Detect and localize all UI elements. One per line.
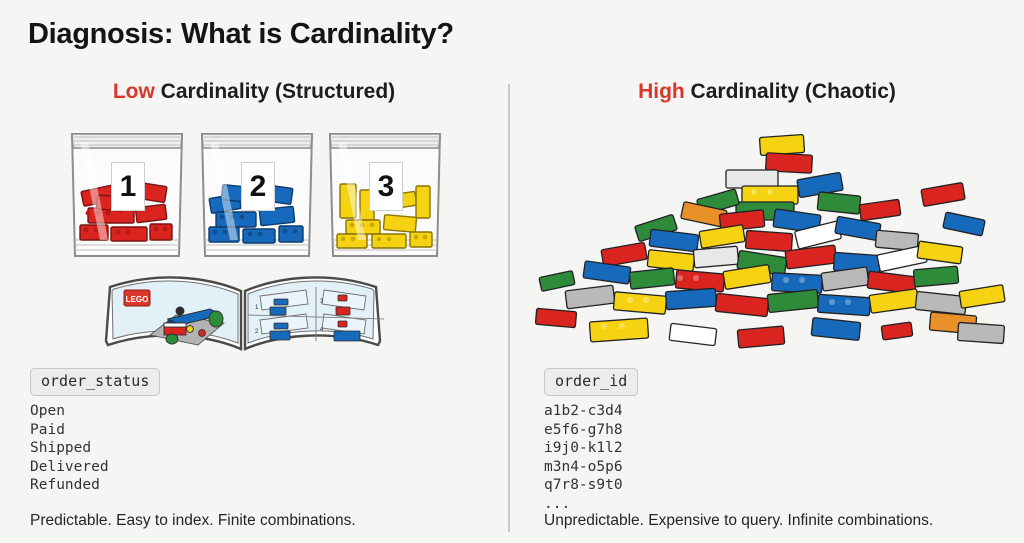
right-caption: Unpredictable. Expensive to query. Infin… xyxy=(544,512,933,530)
left-caption: Predictable. Easy to index. Finite combi… xyxy=(30,512,356,530)
left-field-chip[interactable]: order_status xyxy=(30,368,160,396)
manual-lego-logo: LEGO xyxy=(126,295,149,304)
bag-number-3: 3 xyxy=(369,162,403,211)
right-column-title: High Cardinality (Chaotic) xyxy=(510,80,1024,104)
right-title-rest: Cardinality (Chaotic) xyxy=(685,80,896,103)
slide-root: Diagnosis: What is Cardinality? Low Card… xyxy=(0,0,1024,543)
manual-illustration: LEGO xyxy=(98,263,388,359)
right-field-chip[interactable]: order_id xyxy=(544,368,638,396)
right-title-accent: High xyxy=(638,80,685,103)
lego-bag-3: 3 xyxy=(324,128,446,264)
left-title-accent: Low xyxy=(113,80,155,103)
lego-bag-2: 2 xyxy=(196,128,318,264)
left-value-list: Open Paid Shipped Delivered Refunded xyxy=(30,402,109,495)
lego-instruction-manual: LEGO xyxy=(98,263,388,359)
page-title: Diagnosis: What is Cardinality? xyxy=(28,18,454,51)
brick-pile-illustration xyxy=(530,128,1010,358)
right-value-list: a1b2-c3d4 e5f6-g7h8 i9j0-k1l2 m3n4-o5p6 … xyxy=(544,402,623,514)
bag-number-1: 1 xyxy=(111,162,145,211)
column-divider xyxy=(508,84,510,532)
left-title-rest: Cardinality (Structured) xyxy=(155,80,395,103)
lego-brick-pile xyxy=(530,128,1010,358)
bag-number-2: 2 xyxy=(241,162,275,211)
left-column-title: Low Cardinality (Structured) xyxy=(0,80,508,104)
lego-bag-1: 1 xyxy=(66,128,188,264)
